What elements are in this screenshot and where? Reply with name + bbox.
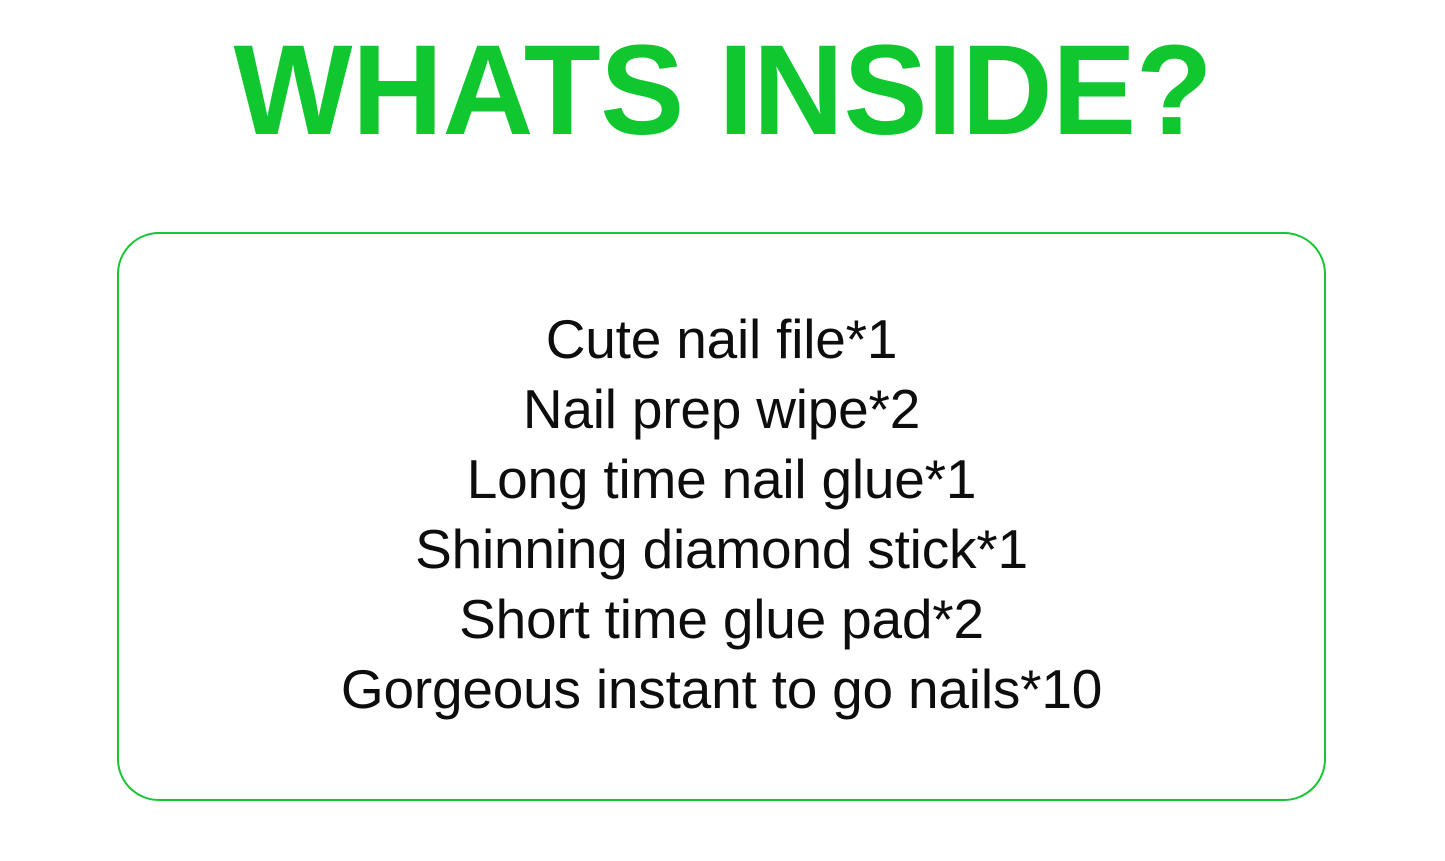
slide-canvas: WHATS INSIDE? Cute nail file*1 Nail prep… xyxy=(0,0,1445,861)
list-item: Gorgeous instant to go nails*10 xyxy=(119,654,1324,724)
list-item: Shinning diamond stick*1 xyxy=(119,514,1324,584)
list-item: Short time glue pad*2 xyxy=(119,584,1324,654)
list-item: Nail prep wipe*2 xyxy=(119,374,1324,444)
contents-list: Cute nail file*1 Nail prep wipe*2 Long t… xyxy=(119,304,1324,724)
contents-panel: Cute nail file*1 Nail prep wipe*2 Long t… xyxy=(117,232,1326,801)
page-title: WHATS INSIDE? xyxy=(0,0,1445,165)
list-item: Long time nail glue*1 xyxy=(119,444,1324,514)
list-item: Cute nail file*1 xyxy=(119,304,1324,374)
page-title-text: WHATS INSIDE? xyxy=(233,45,1212,137)
